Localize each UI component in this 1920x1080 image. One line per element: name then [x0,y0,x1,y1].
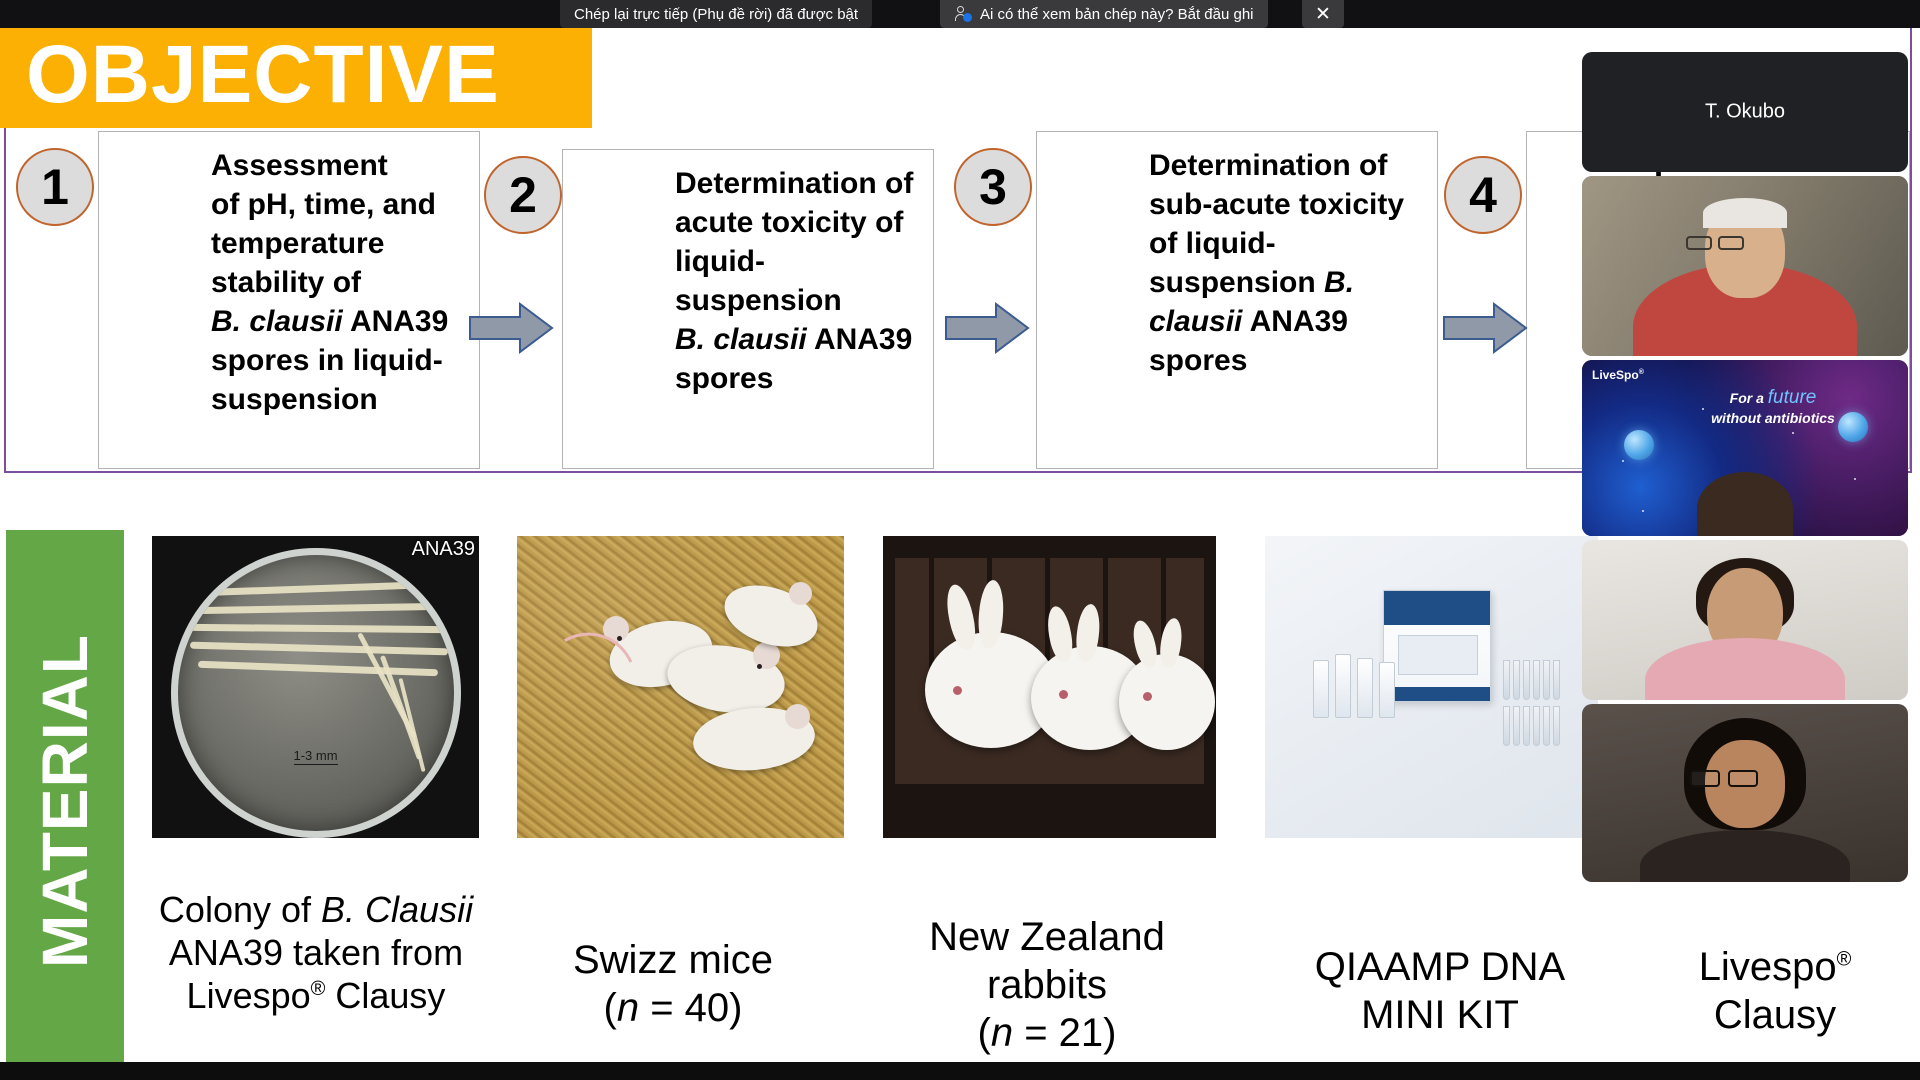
qiaamp-kit-caption: QIAAMP DNA MINI KIT [1250,943,1630,1039]
participant-tile-2-livespo-slide[interactable]: LiveSpo® For a future without antibiotic… [1582,360,1908,536]
objective-step-2: Determination of acute toxicity of liqui… [562,149,934,469]
objective-step-1-badge: 1 [16,148,94,226]
participant-video-column: T. Okubo LiveSpo® For a future [1582,52,1908,952]
participant-tile-4[interactable] [1582,704,1908,882]
livespo-tagline: For a future without antibiotics [1678,386,1868,427]
transcript-notice[interactable]: Ai có thể xem bản chép này? Bắt đầu ghi [940,0,1268,28]
objective-step-2-badge: 2 [484,156,562,234]
self-tile-name: T. Okubo [1582,101,1908,124]
objective-step-2-text: Determination of acute toxicity of liqui… [675,164,925,398]
objective-step-1-text: Assessment of pH, time, and temperature … [211,146,471,419]
rabbits-caption: New Zealand rabbits (n = 21) [872,913,1222,1057]
swizz-mice-photo [517,536,844,838]
new-zealand-rabbits-photo [883,536,1216,838]
close-icon[interactable]: ✕ [1302,0,1344,28]
self-video-tile[interactable]: T. Okubo [1582,52,1908,172]
petri-dish-graphic: 1-3 mm [171,548,461,838]
kit-box-graphic [1383,590,1491,702]
petri-strain-label: ANA39 [412,538,475,561]
right-arrow-icon [1442,301,1528,355]
captions-notice: Chép lại trực tiếp (Phụ đề rời) đã được … [560,0,872,28]
screen-root: Assessment of pH, time, and temperature … [0,0,1920,1080]
material-title: MATERIAL [28,634,102,968]
participant-tile-1[interactable] [1582,176,1908,356]
petri-dish-caption: Colony of B. Clausii ANA39 taken from Li… [126,888,506,1018]
participant-tile-3[interactable] [1582,540,1908,700]
objective-step-3: Determination of sub-acute toxicity of l… [1036,131,1438,469]
objective-step-1: Assessment of pH, time, and temperature … [98,131,480,469]
objective-step-3-text: Determination of sub-acute toxicity of l… [1149,146,1429,380]
objective-title: OBJECTIVE [26,34,500,116]
livespo-logo: LiveSpo® [1592,368,1644,382]
bottom-letterbox [0,1062,1920,1080]
material-title-banner: MATERIAL [6,530,124,1070]
objective-step-4-badge: 4 [1444,156,1522,234]
petri-dish-photo: 1-3 mm ANA39 [152,536,479,838]
petri-scale-label: 1-3 mm [293,748,337,765]
livespo-clausy-caption: Livespo® Clausy [1630,943,1920,1039]
captions-notice-text: Chép lại trực tiếp (Phụ đề rời) đã được … [574,6,858,23]
transcript-notice-text: Ai có thể xem bản chép này? Bắt đầu ghi [980,6,1254,23]
right-arrow-icon [468,301,554,355]
swizz-mice-caption: Swizz mice (n = 40) [508,936,838,1032]
astronaut-mascot-left-icon [1624,430,1654,460]
objective-step-3-badge: 3 [954,148,1032,226]
qiaamp-kit-photo [1265,536,1598,838]
objective-title-banner: OBJECTIVE [0,22,592,128]
right-arrow-icon [944,301,1030,355]
person-add-icon [954,5,972,23]
meet-top-bar: Chép lại trực tiếp (Phụ đề rời) đã được … [0,0,1920,28]
